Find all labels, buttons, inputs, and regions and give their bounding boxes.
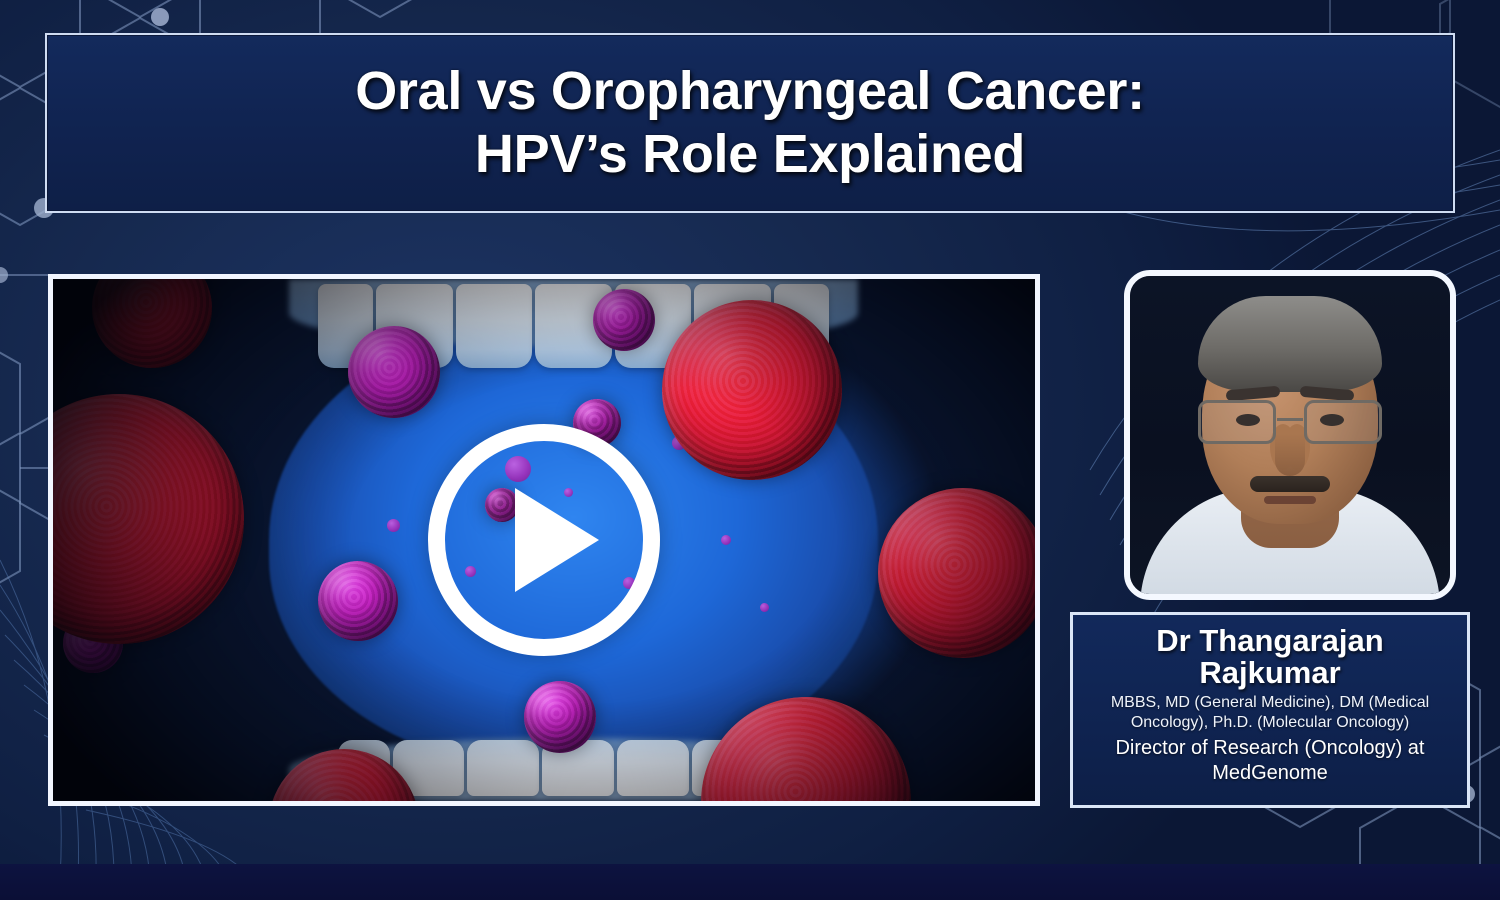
- title-line-2: HPV’s Role Explained: [355, 123, 1145, 186]
- presenter-name: Dr Thangarajan Rajkumar: [1085, 625, 1455, 688]
- play-triangle-icon: [515, 488, 599, 592]
- presenter-mustache: [1250, 476, 1330, 492]
- presenter-hair: [1198, 296, 1382, 392]
- presenter-qualifications: MBBS, MD (General Medicine), DM (Medical…: [1085, 693, 1455, 733]
- eyeglass-lens-right: [1304, 400, 1382, 444]
- title-line-1: Oral vs Oropharyngeal Cancer:: [355, 61, 1145, 121]
- presenter-mouth: [1264, 496, 1316, 504]
- presenter-nose: [1275, 434, 1305, 476]
- eyeglass-lens-left: [1198, 400, 1276, 444]
- video-thumbnail-card[interactable]: [48, 274, 1040, 806]
- bottom-bar: [0, 864, 1500, 900]
- video-thumbnail-image: [53, 279, 1035, 801]
- presenter-avatar: [1130, 276, 1450, 594]
- title-banner: Oral vs Oropharyngeal Cancer: HPV’s Role…: [45, 33, 1455, 213]
- slide-canvas: Oral vs Oropharyngeal Cancer: HPV’s Role…: [0, 0, 1500, 900]
- play-button[interactable]: [428, 424, 660, 656]
- page-title: Oral vs Oropharyngeal Cancer: HPV’s Role…: [335, 60, 1165, 185]
- presenter-role: Director of Research (Oncology) at MedGe…: [1085, 736, 1455, 785]
- presenter-photo-frame: [1124, 270, 1456, 600]
- eyeglass-bridge: [1277, 418, 1303, 421]
- presenter-info-card: Dr Thangarajan Rajkumar MBBS, MD (Genera…: [1070, 612, 1470, 808]
